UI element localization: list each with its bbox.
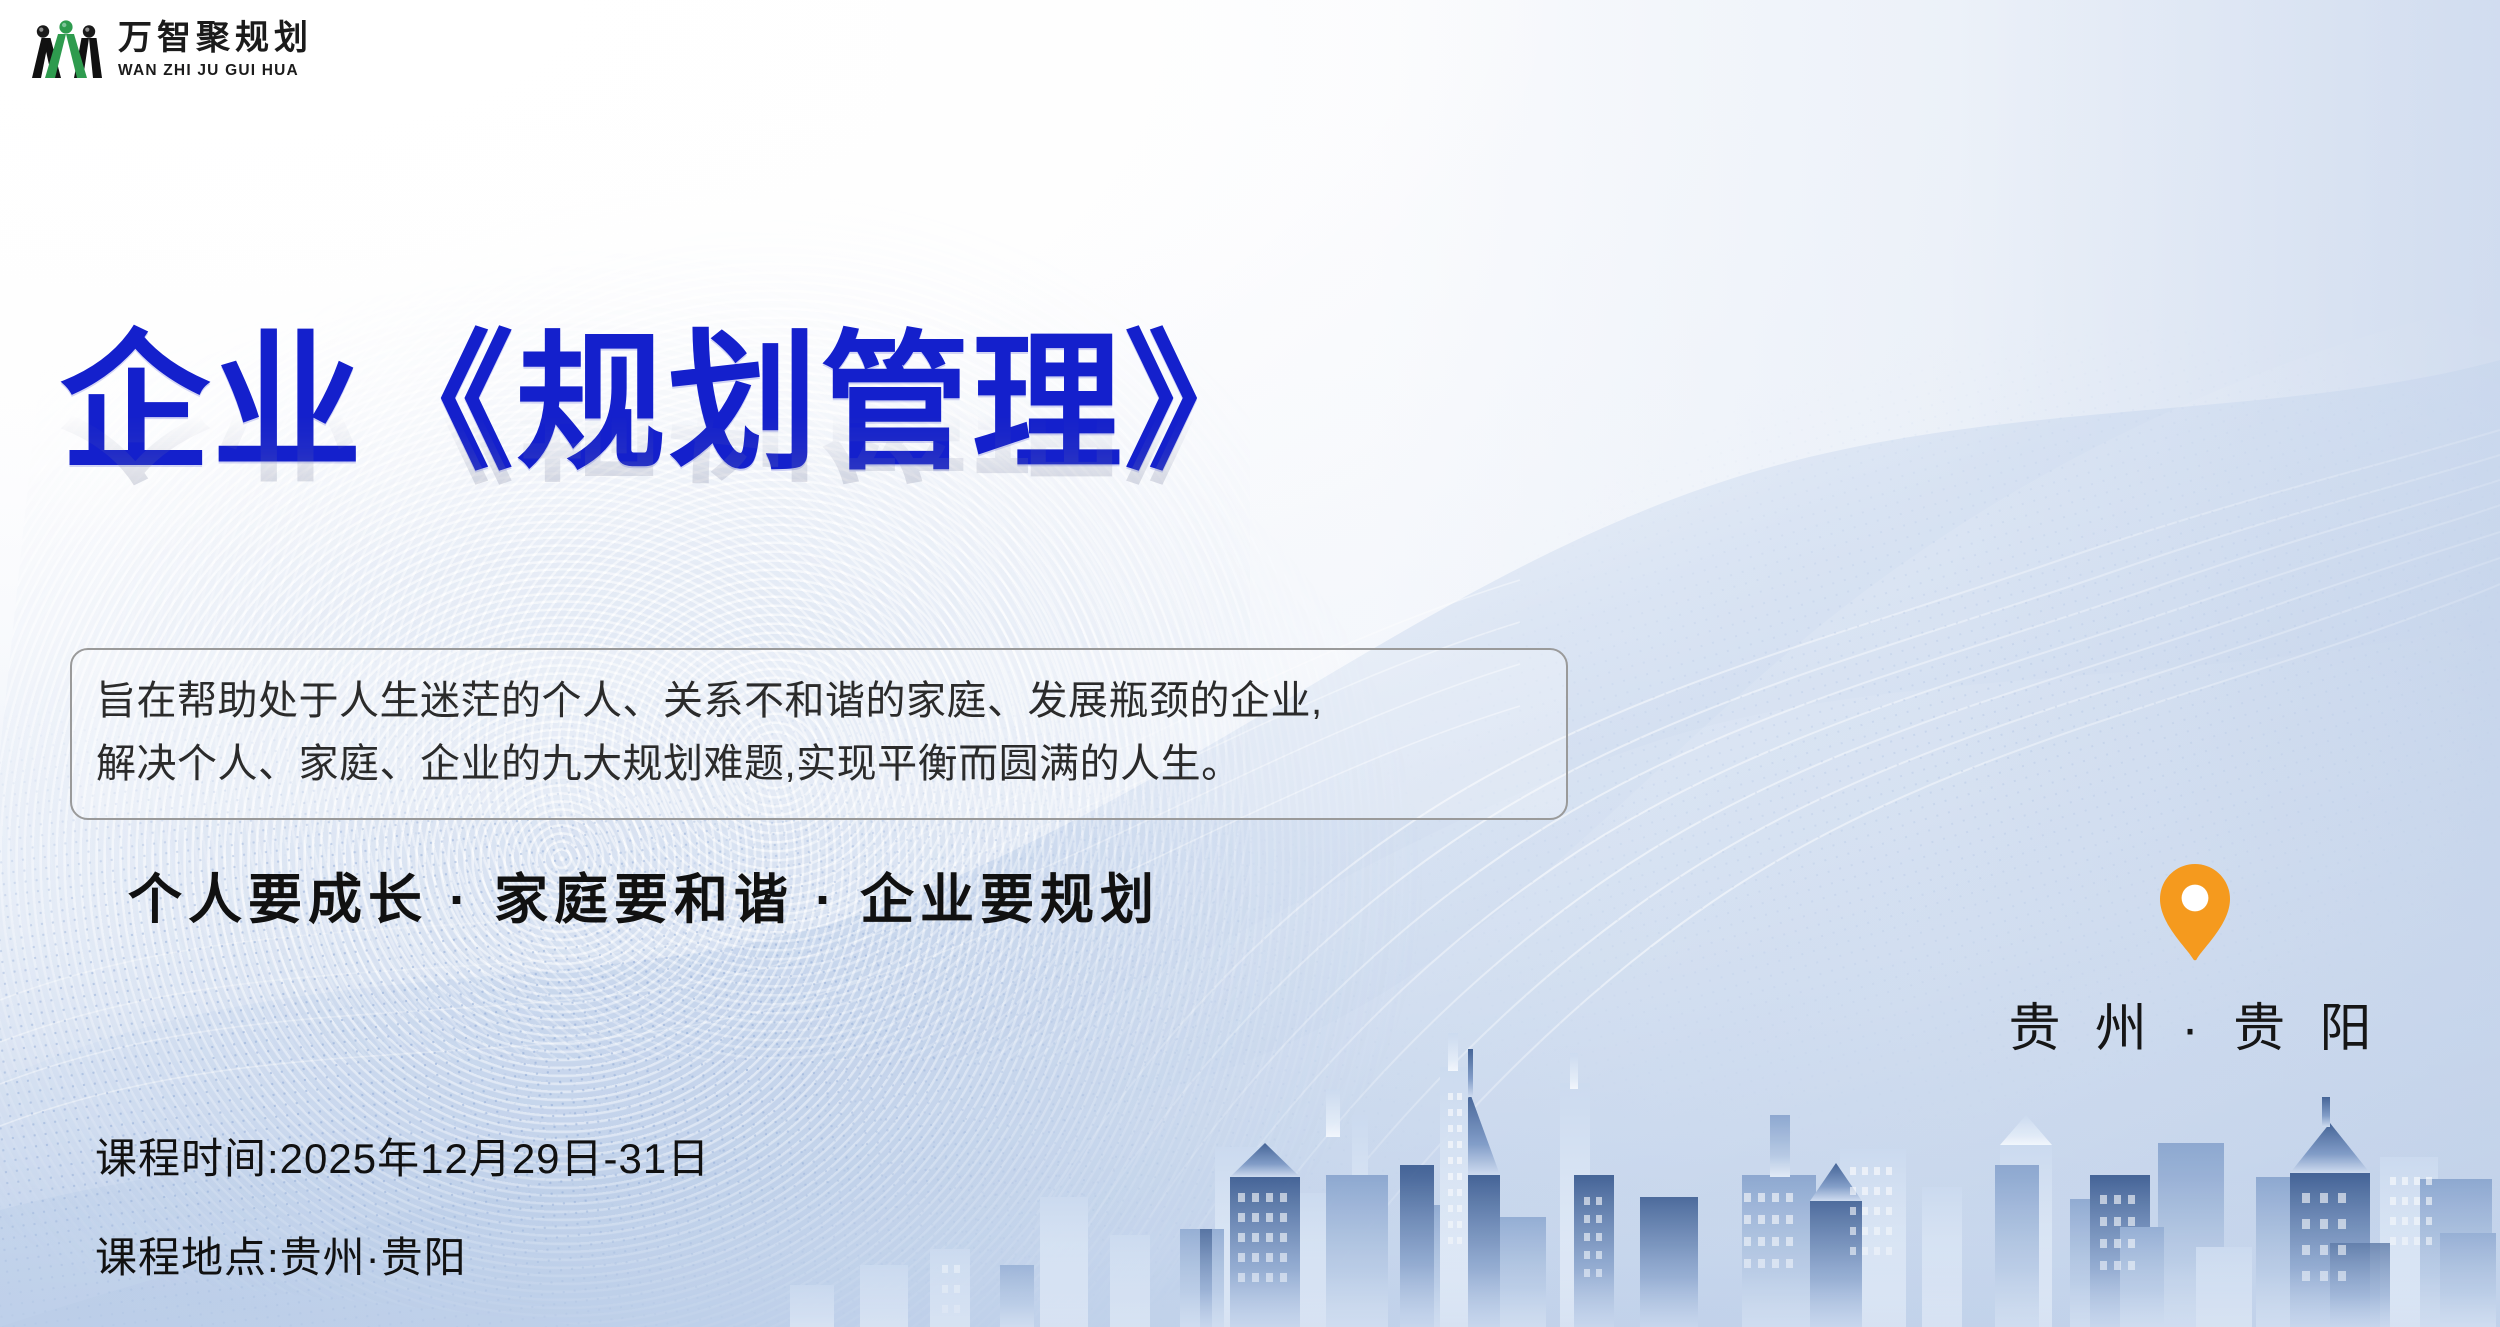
description-box: 旨在帮助处于人生迷茫的个人、关系不和谐的家庭、发展瓶颈的企业, 解决个人、家庭、… <box>70 648 1568 820</box>
description-line-2: 解决个人、家庭、企业的九大规划难题,实现平衡而圆满的人生。 <box>96 733 1544 796</box>
location-label: 贵 州 · 贵 阳 <box>1955 986 2435 1061</box>
slogan-text: 个人要成长 · 家庭要和谐 · 企业要规划 <box>128 855 1160 934</box>
course-info-block: 课程时间:2025年12月29日-31日 课程地点:贵州·贵阳 <box>95 1125 710 1285</box>
description-line-1: 旨在帮助处于人生迷茫的个人、关系不和谐的家庭、发展瓶颈的企业, <box>96 670 1544 733</box>
three-people-logo-icon <box>30 18 102 82</box>
course-time-line: 课程时间:2025年12月29日-31日 <box>95 1125 710 1186</box>
brand-name-cn: 万智聚规划 <box>118 22 313 56</box>
map-pin-icon <box>2157 862 2233 962</box>
brand-logo[interactable]: 万智聚规划 WAN ZHI JU GUI HUA <box>30 18 313 82</box>
hero-title-block: 企业《规划管理》 企业《规划管理》 <box>60 322 1276 608</box>
poster-canvas: 万智聚规划 WAN ZHI JU GUI HUA 企业《规划管理》 企业《规划管… <box>0 0 2500 1327</box>
course-place-line: 课程地点:贵州·贵阳 <box>95 1224 710 1285</box>
page-title: 企业《规划管理》 <box>60 322 1276 484</box>
location-block: 贵 州 · 贵 阳 <box>1955 862 2435 1061</box>
brand-name-pinyin: WAN ZHI JU GUI HUA <box>118 63 313 79</box>
